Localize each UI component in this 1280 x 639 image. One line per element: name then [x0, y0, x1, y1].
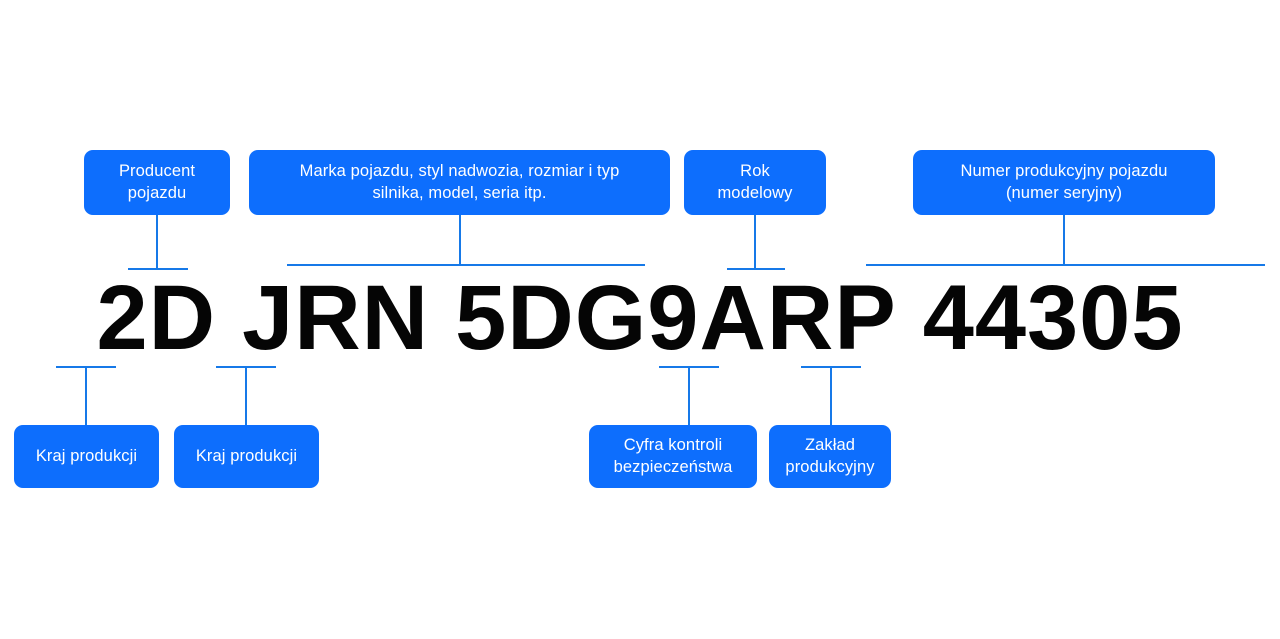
label-rok-modelowy[interactable]: Rok modelowy — [684, 150, 826, 215]
label-producent-pojazdu[interactable]: Producent pojazdu — [84, 150, 230, 215]
vin-string: 2D JRN 5DG9ARP 44305 — [0, 272, 1280, 364]
connector-vertical-marka — [459, 215, 461, 265]
vin-group-wmi-a: 2D — [96, 266, 216, 371]
connector-vertical-kraj-1 — [85, 366, 87, 425]
connector-vertical-zaklad — [830, 366, 832, 425]
vin-group-wmi-b: JRN — [242, 266, 429, 371]
connector-vertical-producent — [156, 215, 158, 269]
connector-vertical-numer — [1063, 215, 1065, 265]
connector-vertical-kraj-2 — [245, 366, 247, 425]
vin-group-vis: 44305 — [923, 266, 1184, 371]
label-marka-pojazdu[interactable]: Marka pojazdu, styl nadwozia, rozmiar i … — [249, 150, 670, 215]
connector-vertical-rok — [754, 215, 756, 269]
label-kraj-produkcji-2[interactable]: Kraj produkcji — [174, 425, 319, 488]
label-kraj-produkcji-1[interactable]: Kraj produkcji — [14, 425, 159, 488]
label-zaklad-produkcyjny[interactable]: Zakład produkcyjny — [769, 425, 891, 488]
vin-diagram: Producent pojazdu Marka pojazdu, styl na… — [0, 0, 1280, 639]
vin-group-vds: 5DG9ARP — [455, 266, 897, 371]
label-cyfra-kontroli[interactable]: Cyfra kontroli bezpieczeństwa — [589, 425, 757, 488]
connector-vertical-cyfra — [688, 366, 690, 425]
label-numer-produkcyjny[interactable]: Numer produkcyjny pojazdu (numer seryjny… — [913, 150, 1215, 215]
